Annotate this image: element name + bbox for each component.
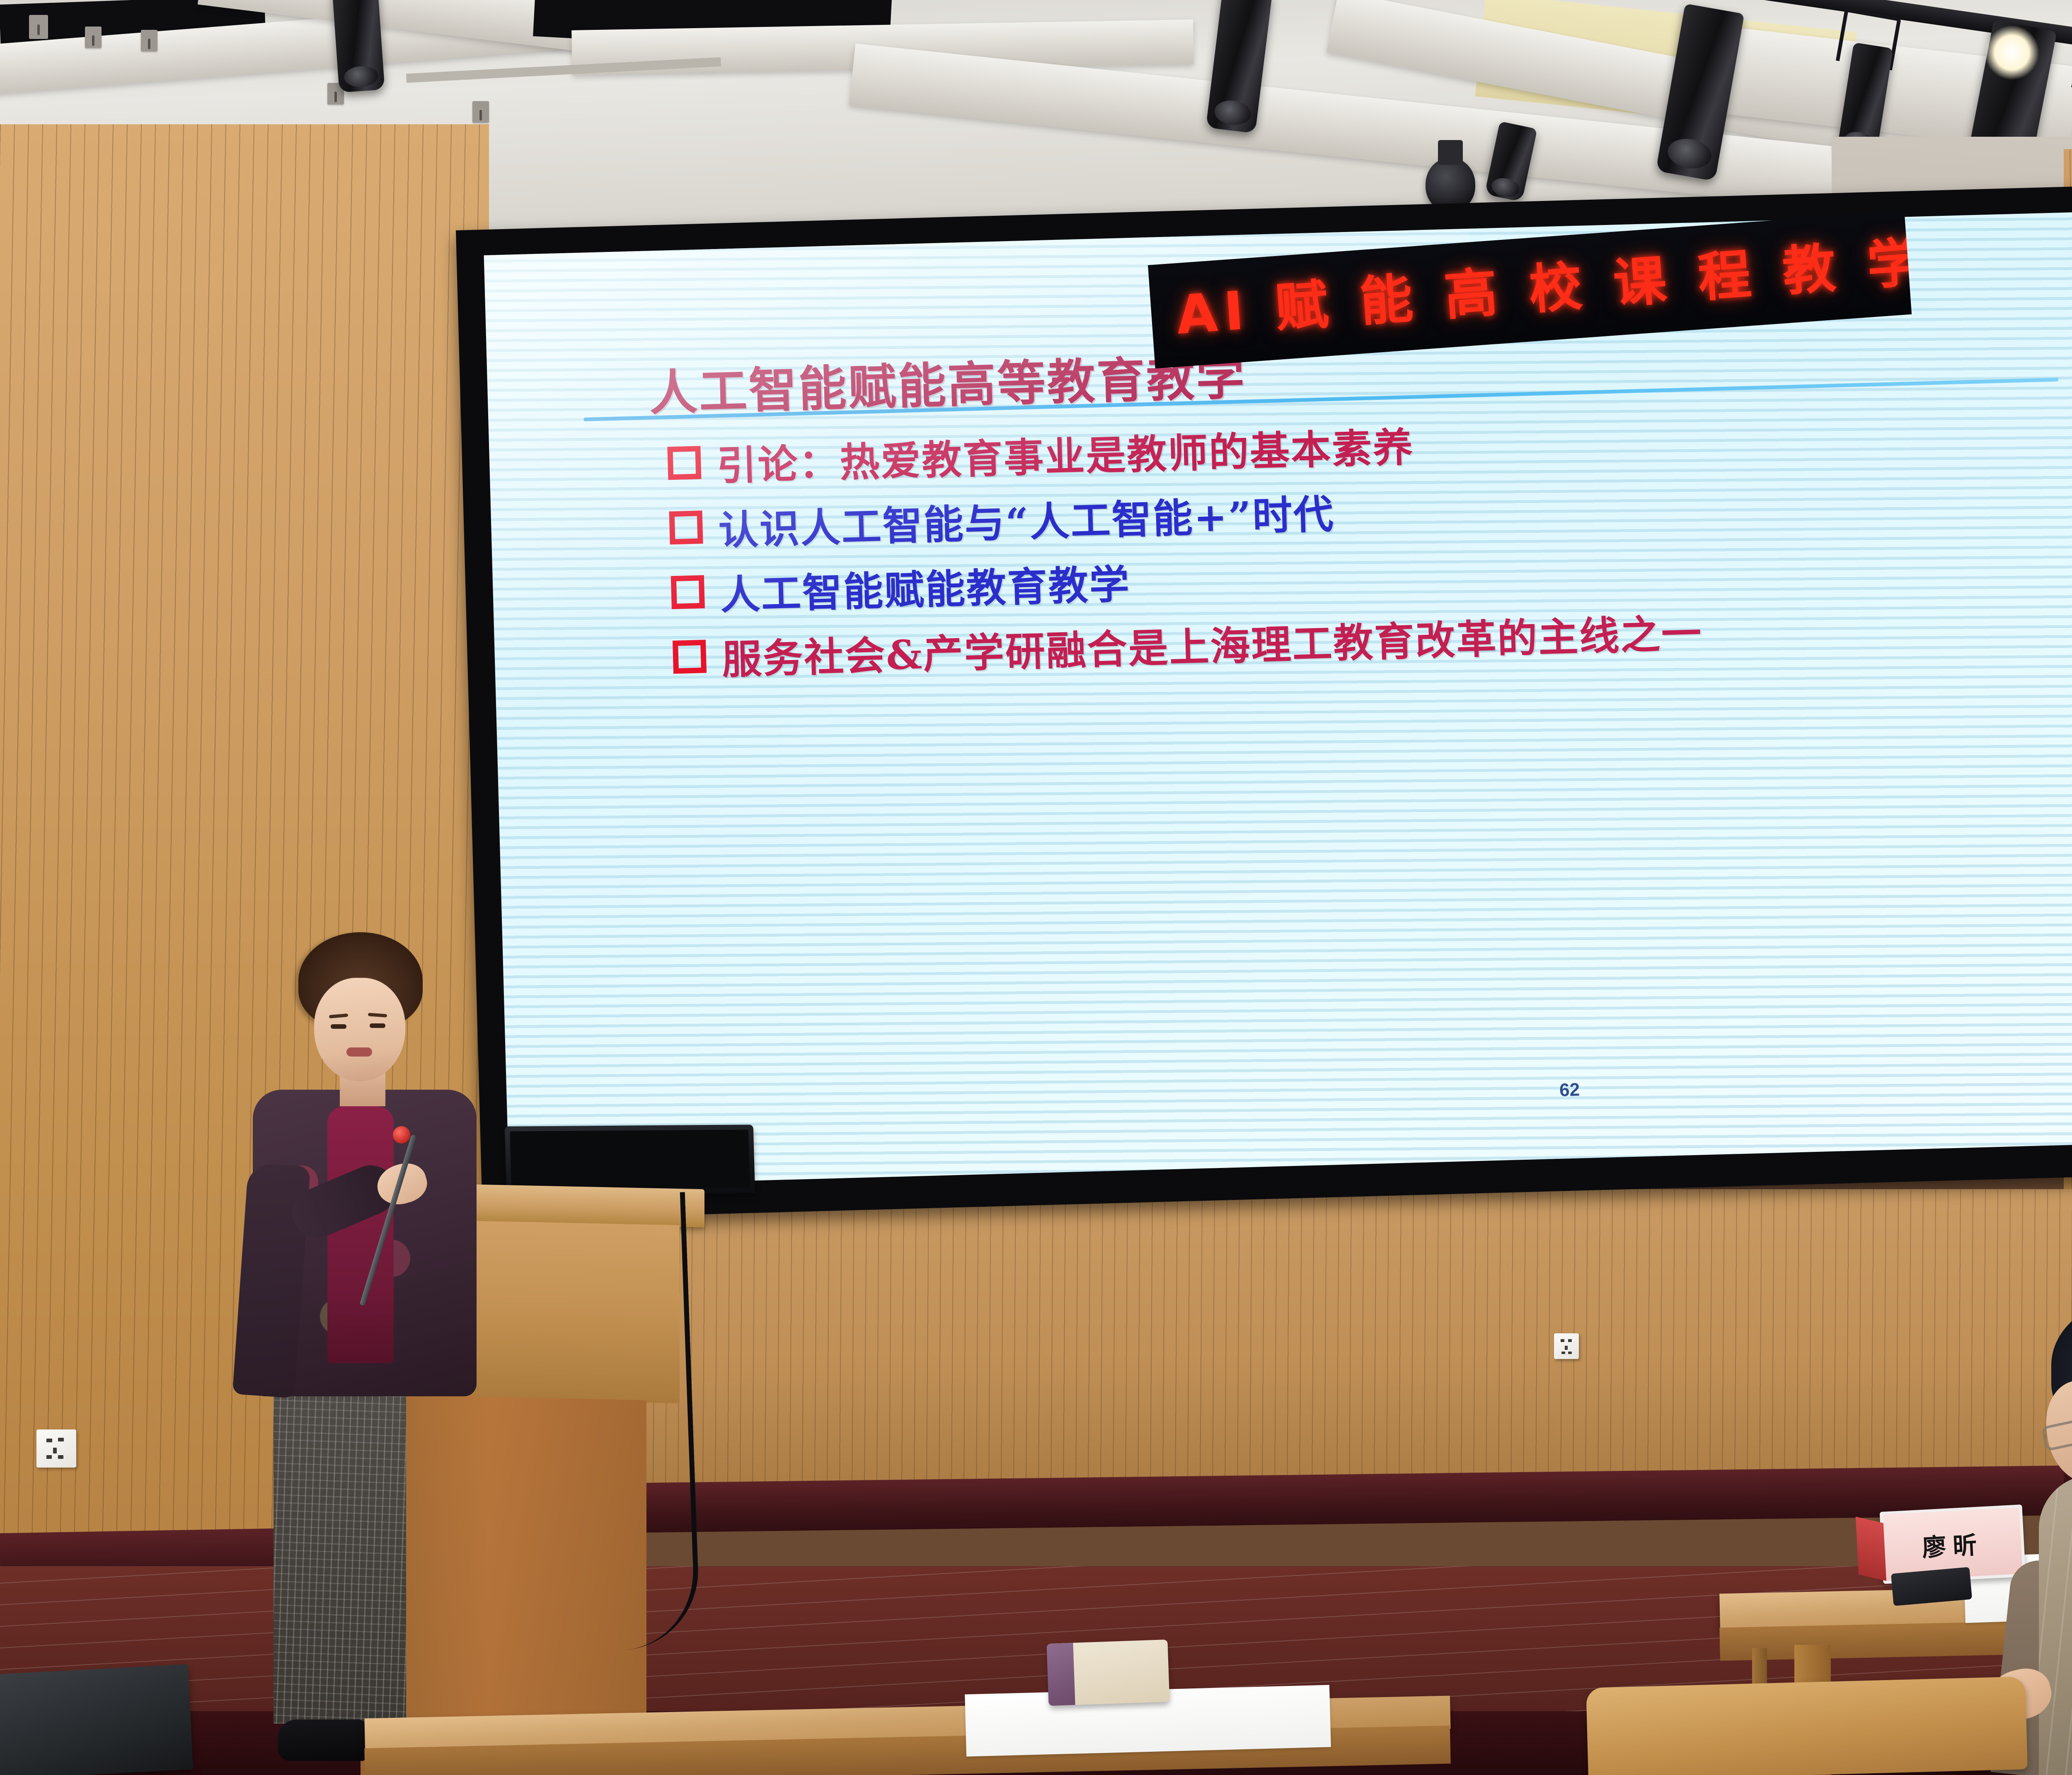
stage-spotlight-1 bbox=[332, 0, 385, 93]
scene-root: 人工智能赋能高等教育教学 引论：热爱教育事业是教师的基本素养 认识人工智能与“人… bbox=[0, 0, 2072, 1775]
slide-bullet-text: 人工智能赋能教育教学 bbox=[719, 552, 1131, 621]
ceiling-anchor-1 bbox=[29, 15, 48, 39]
microphone-icon bbox=[393, 1126, 410, 1144]
ceiling-anchor-5 bbox=[472, 101, 489, 123]
attendee-sweater-vest bbox=[2039, 1475, 2072, 1775]
hollow-square-bullet-icon bbox=[673, 640, 707, 674]
ceiling-anchor-3 bbox=[141, 30, 157, 51]
laptop-screen[interactable] bbox=[505, 1124, 755, 1195]
hollow-square-bullet-icon bbox=[667, 446, 701, 480]
presenter-face bbox=[314, 978, 405, 1081]
ceiling-anchor-2 bbox=[85, 27, 102, 48]
spotlight-lens bbox=[1490, 176, 1521, 199]
wooden-chair[interactable] bbox=[1586, 1676, 2028, 1775]
tissue-packet[interactable] bbox=[1047, 1640, 1169, 1706]
hollow-square-bullet-icon bbox=[669, 510, 703, 544]
wall-outlet-left[interactable] bbox=[36, 1429, 76, 1468]
stage-monitor-speaker bbox=[0, 1664, 193, 1775]
presenter bbox=[215, 932, 506, 1775]
camera-mount bbox=[1438, 140, 1463, 165]
presenter-trousers bbox=[274, 1384, 406, 1724]
spotlight-lens bbox=[1665, 135, 1714, 172]
name-placard-side bbox=[1856, 1516, 1886, 1581]
smartphone[interactable] bbox=[1891, 1567, 1972, 1606]
hollow-square-bullet-icon bbox=[671, 575, 705, 609]
slide-bullet-list: 引论：热爱教育事业是教师的基本素养 认识人工智能与“人工智能+”时代 人工智能赋… bbox=[667, 394, 2072, 691]
wall-outlet-right[interactable] bbox=[1554, 1333, 1579, 1359]
ceiling-bulb bbox=[1985, 26, 2039, 80]
podium-cable-2 bbox=[605, 1192, 701, 1650]
spotlight-lens bbox=[1213, 99, 1252, 127]
spotlight-lens bbox=[344, 65, 379, 88]
presenter-shoe bbox=[278, 1719, 367, 1761]
name-placard-text: 廖昕 bbox=[1921, 1525, 1984, 1563]
slide-page-number: 62 bbox=[1559, 1079, 1580, 1100]
